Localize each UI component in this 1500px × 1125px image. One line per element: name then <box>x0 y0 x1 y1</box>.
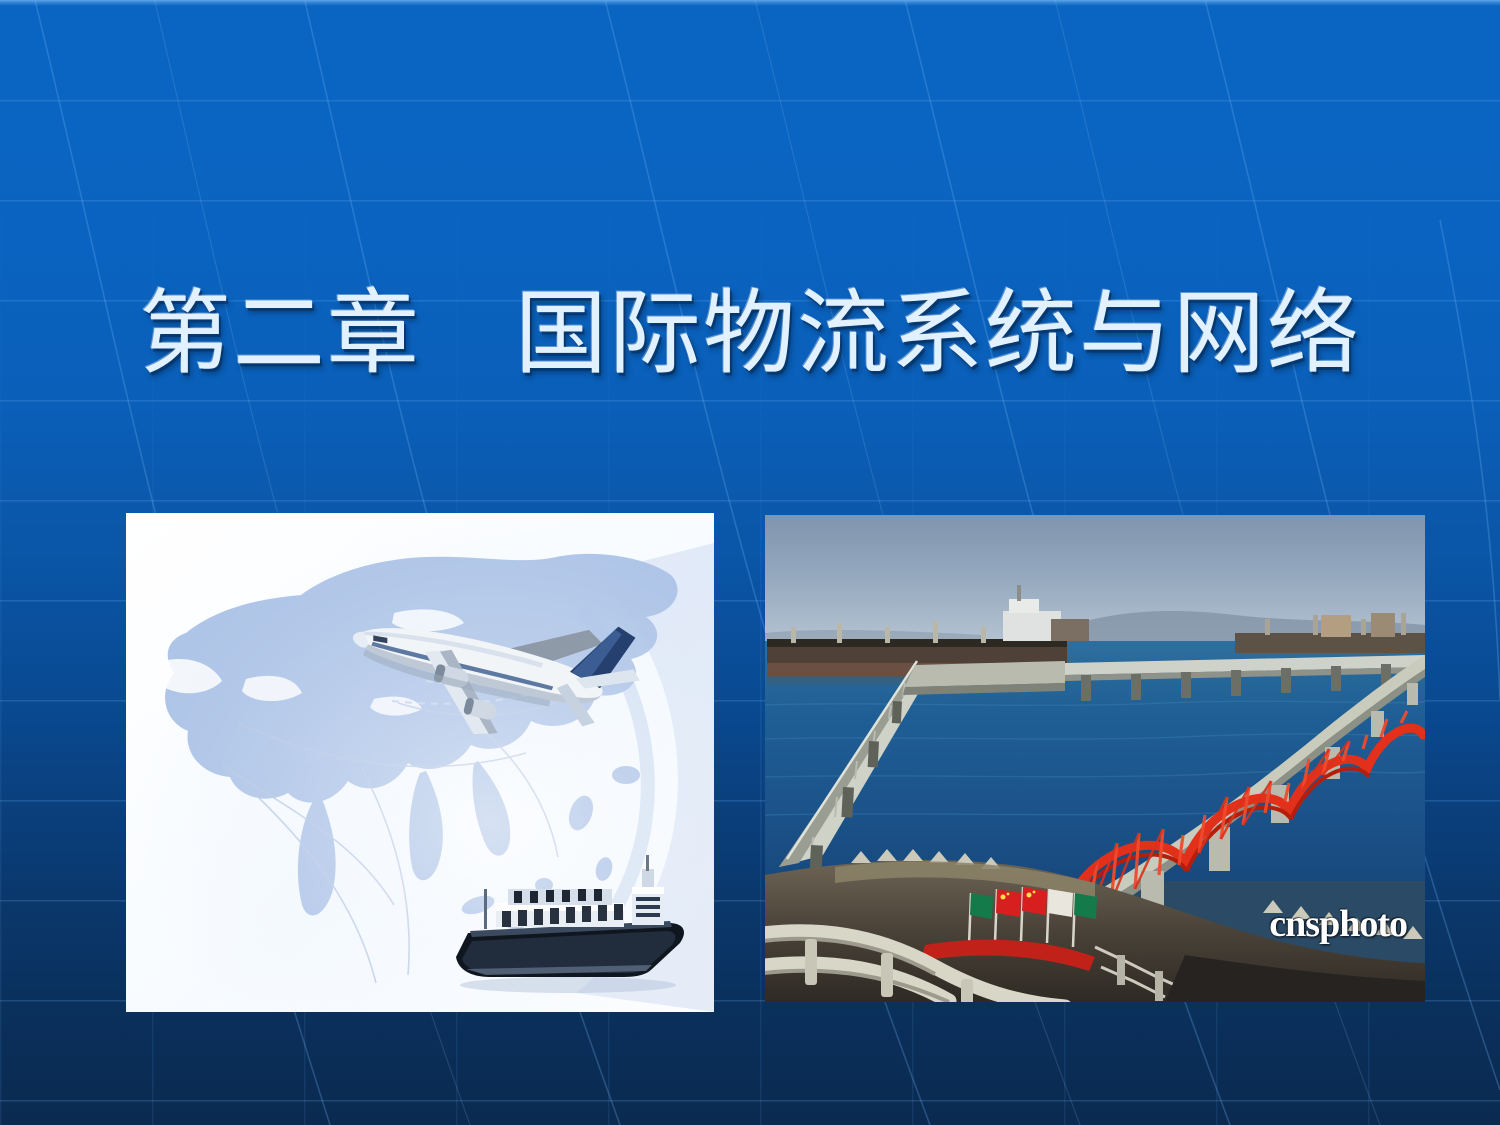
world-map-illustration <box>126 513 714 1012</box>
page-title: 第二章 国际物流系统与网络 <box>0 286 1500 383</box>
port-terminal-photo-image: cnsphoto <box>765 515 1425 1002</box>
top-edge-glow <box>0 0 1500 6</box>
slide-canvas: 第二章 国际物流系统与网络 <box>0 0 1500 1125</box>
photo-watermark: cnsphoto <box>1269 902 1407 946</box>
global-logistics-map-image <box>126 513 714 1012</box>
